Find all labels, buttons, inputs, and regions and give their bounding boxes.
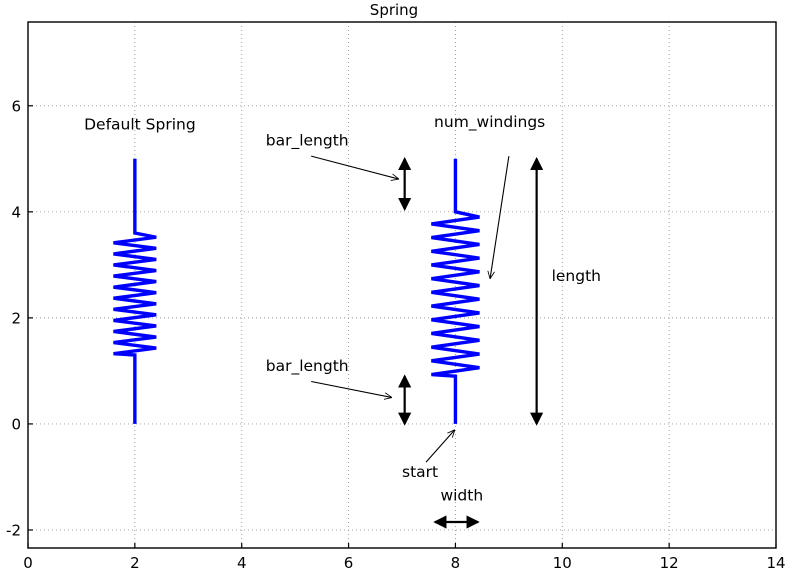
annotation-start: start [402, 463, 438, 481]
x-tick-label: 10 [553, 554, 572, 572]
annotation-default-spring: Default Spring [84, 116, 196, 134]
figure-canvas: Spring 02468101214-20246Default Springba… [0, 0, 788, 577]
x-tick-label: 2 [130, 554, 140, 572]
y-tick-label: 0 [11, 415, 21, 433]
y-tick-label: 4 [11, 203, 21, 221]
spring-curve [431, 159, 479, 424]
start-leader [426, 430, 454, 462]
x-tick-label: 4 [237, 554, 247, 572]
spring-curve [113, 159, 156, 424]
num-windings-leader [490, 156, 509, 278]
y-tick-label: -2 [6, 521, 21, 539]
annotation-width: width [440, 486, 483, 504]
annotation-length: length [552, 267, 601, 285]
annotation-bar-length-bottom: bar_length [266, 357, 349, 376]
y-tick-label: 2 [11, 309, 21, 327]
y-tick-label: 6 [11, 97, 21, 115]
x-tick-label: 12 [660, 554, 679, 572]
x-tick-label: 14 [766, 554, 785, 572]
plot-area: 02468101214-20246Default Springbar_lengt… [0, 0, 788, 577]
annotation-num-windings: num_windings [434, 113, 545, 132]
x-tick-label: 0 [23, 554, 33, 572]
bar-length-bottom-leader [311, 382, 391, 398]
bar-length-top-leader [311, 156, 398, 179]
x-tick-label: 6 [344, 554, 354, 572]
x-tick-label: 8 [451, 554, 461, 572]
annotation-bar-length-top: bar_length [266, 132, 349, 151]
